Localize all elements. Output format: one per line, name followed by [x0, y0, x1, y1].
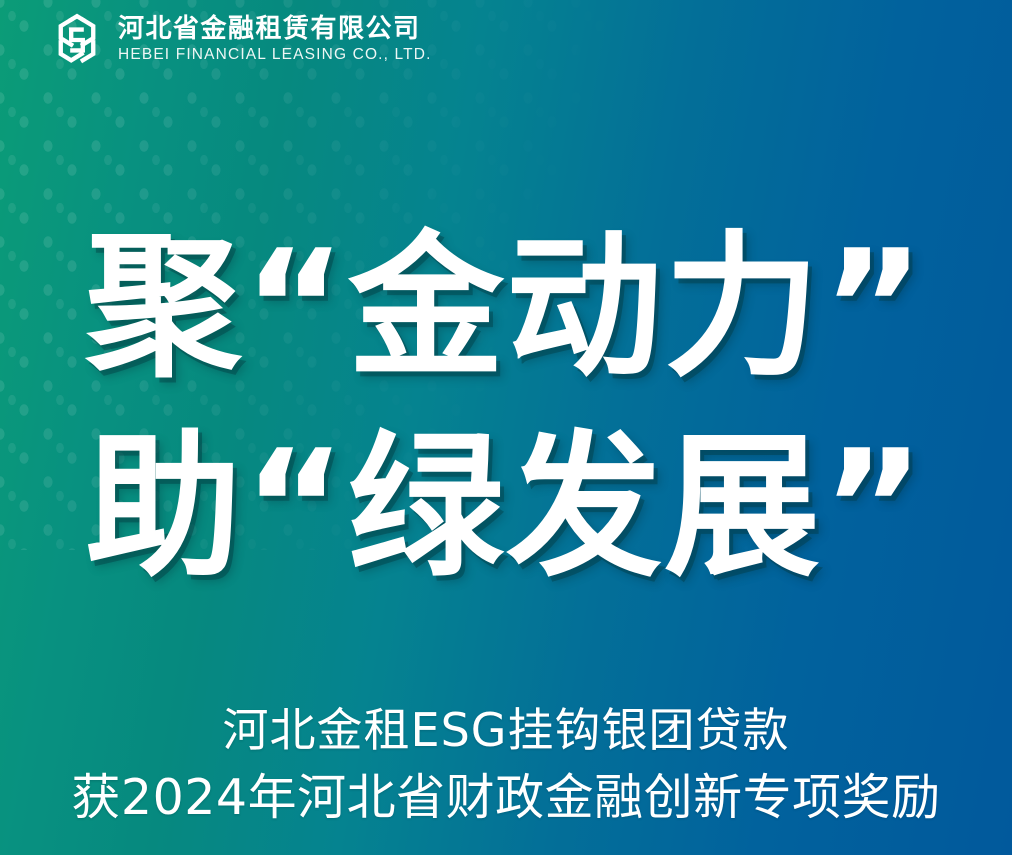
- subtitle-line-1: 河北金租ESG挂钩银团贷款: [0, 698, 1012, 763]
- subtitle-block: 河北金租ESG挂钩银团贷款 获2024年河北省财政金融创新专项奖励: [0, 698, 1012, 833]
- subtitle-line-2: 获2024年河北省财政金融创新专项奖励: [0, 763, 1012, 833]
- company-logo-lockup: 河北省金融租赁有限公司 HEBEI FINANCIAL LEASING CO.,…: [48, 12, 432, 68]
- headline-line-2: 助“绿发展”: [0, 408, 1012, 608]
- logo-text-block: 河北省金融租赁有限公司 HEBEI FINANCIAL LEASING CO.,…: [118, 15, 432, 65]
- company-name-cn: 河北省金融租赁有限公司: [118, 15, 432, 42]
- headline-block: 聚“金动力” 助“绿发展”: [0, 208, 1012, 607]
- company-name-en: HEBEI FINANCIAL LEASING CO., LTD.: [118, 45, 432, 65]
- hexagonal-interlocking-knot-icon: [48, 12, 106, 68]
- promotional-banner: 河北省金融租赁有限公司 HEBEI FINANCIAL LEASING CO.,…: [0, 0, 1012, 855]
- headline-line-1: 聚“金动力”: [0, 208, 1012, 408]
